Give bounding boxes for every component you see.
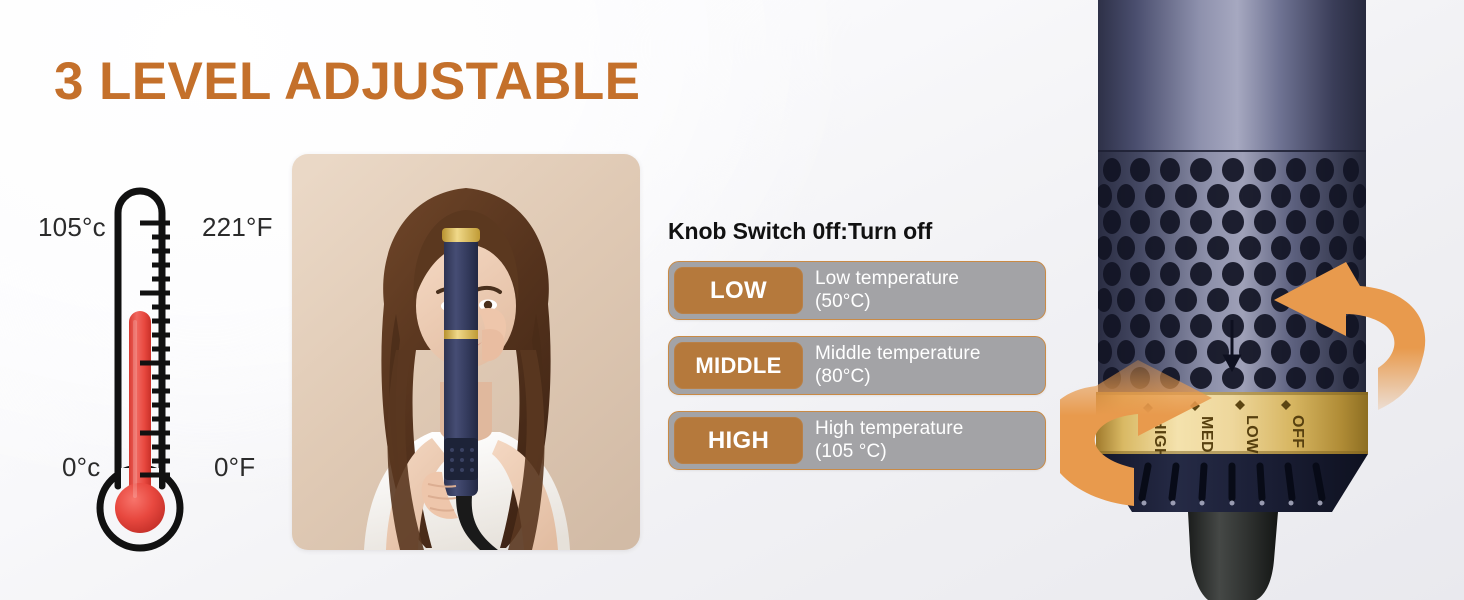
knob-switch-heading: Knob Switch 0ff:Turn off bbox=[668, 218, 1050, 245]
infographic-canvas: 3 LEVEL ADJUSTABLE bbox=[0, 0, 1464, 600]
thermometer-bottom-celsius-label: 0°c bbox=[62, 452, 100, 483]
model-photo bbox=[292, 154, 640, 550]
level-row-low[interactable]: LOW Low temperature (50°C) bbox=[668, 261, 1046, 320]
thermometer-top-celsius-label: 105°c bbox=[38, 212, 106, 243]
page-title: 3 LEVEL ADJUSTABLE bbox=[54, 51, 640, 112]
level-description-middle: Middle temperature (80°C) bbox=[815, 343, 981, 388]
thermometer-bottom-fahrenheit-label: 0°F bbox=[214, 452, 255, 483]
level-row-middle[interactable]: MIDDLE Middle temperature (80°C) bbox=[668, 336, 1046, 395]
level-badge-low: LOW bbox=[674, 267, 803, 314]
model-photo-illustration bbox=[292, 154, 640, 550]
hair-styler-product: HIGH MED LOW OFF bbox=[1060, 0, 1464, 600]
product-graphic: HIGH MED LOW OFF bbox=[1060, 0, 1464, 600]
knob-label-low: LOW bbox=[1243, 415, 1260, 454]
level-desc-line1-middle: Middle temperature bbox=[815, 343, 981, 365]
level-desc-line2-middle: (80°C) bbox=[815, 366, 981, 388]
thermometer-illustration: 105°c 221°F 0°c 0°F bbox=[18, 168, 286, 558]
level-description-high: High temperature (105 °C) bbox=[815, 418, 963, 463]
level-desc-line1-low: Low temperature bbox=[815, 268, 959, 290]
level-badge-middle: MIDDLE bbox=[674, 342, 803, 389]
handle-cord bbox=[1188, 512, 1278, 600]
thermometer-top-fahrenheit-label: 221°F bbox=[202, 212, 273, 243]
level-desc-line1-high: High temperature bbox=[815, 418, 963, 440]
level-badge-high: HIGH bbox=[674, 417, 803, 464]
level-desc-line2-high: (105 °C) bbox=[815, 441, 963, 463]
knob-switch-panel: Knob Switch 0ff:Turn off LOW Low tempera… bbox=[668, 218, 1050, 486]
knob-label-off: OFF bbox=[1289, 415, 1306, 449]
level-desc-line2-low: (50°C) bbox=[815, 291, 959, 313]
level-row-high[interactable]: HIGH High temperature (105 °C) bbox=[668, 411, 1046, 470]
level-description-low: Low temperature (50°C) bbox=[815, 268, 959, 313]
knob-label-med: MED bbox=[1198, 416, 1215, 453]
